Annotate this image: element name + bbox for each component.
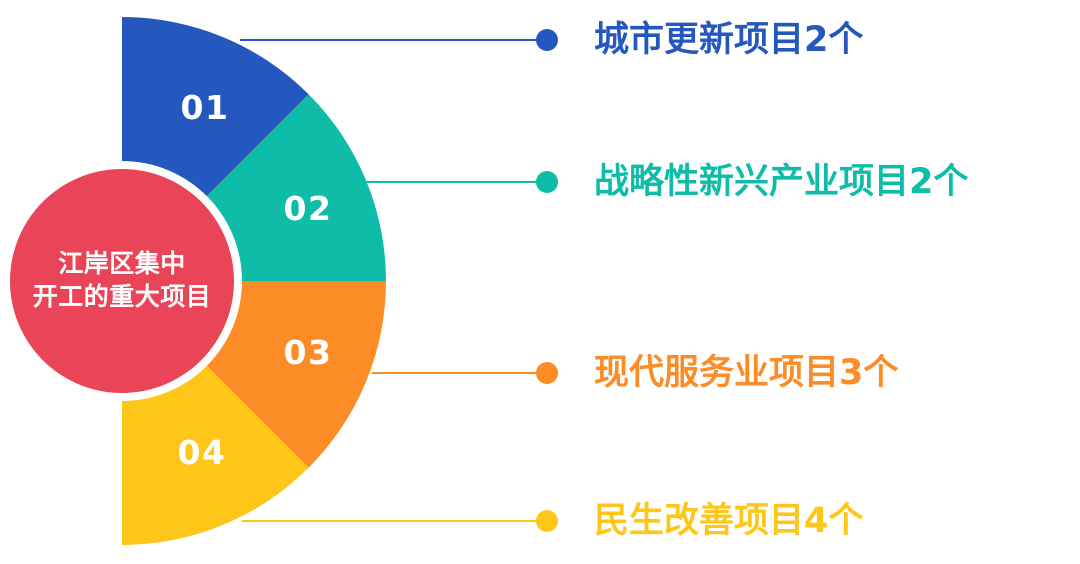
- legend-row-01[interactable]: 城市更新项目2个: [536, 11, 863, 69]
- legend-label-02: 战略性新兴产业项目2个: [594, 165, 968, 200]
- hub-label-line-1: 江岸区集中: [58, 249, 186, 278]
- legend-label-03: 现代服务业项目3个: [594, 356, 898, 391]
- fan-segment-02-number: 02: [284, 189, 333, 228]
- legend: 城市更新项目2个 战略性新兴产业项目2个 现代服务业项目3个 民生改善项目4个: [536, 0, 1080, 564]
- hub-label-line-2: 开工的重大项目: [33, 282, 212, 311]
- legend-dot-02: [536, 171, 558, 193]
- hub-circle[interactable]: [10, 169, 234, 393]
- legend-dot-01: [536, 29, 558, 51]
- legend-dot-04: [536, 510, 558, 532]
- fan-segment-04-number: 04: [178, 433, 227, 472]
- legend-dot-03: [536, 362, 558, 384]
- legend-row-03[interactable]: 现代服务业项目3个: [536, 344, 898, 402]
- fan-segment-03-number: 03: [284, 333, 333, 372]
- fan-segment-01-number: 01: [181, 88, 230, 127]
- infographic-canvas: 江岸区集中 开工的重大项目 01 02 03 04 城市更新项目2个 战略性新兴…: [0, 0, 1080, 564]
- legend-row-02[interactable]: 战略性新兴产业项目2个: [536, 153, 968, 211]
- legend-row-04[interactable]: 民生改善项目4个: [536, 492, 863, 550]
- legend-label-04: 民生改善项目4个: [594, 504, 863, 539]
- legend-label-01: 城市更新项目2个: [594, 23, 863, 58]
